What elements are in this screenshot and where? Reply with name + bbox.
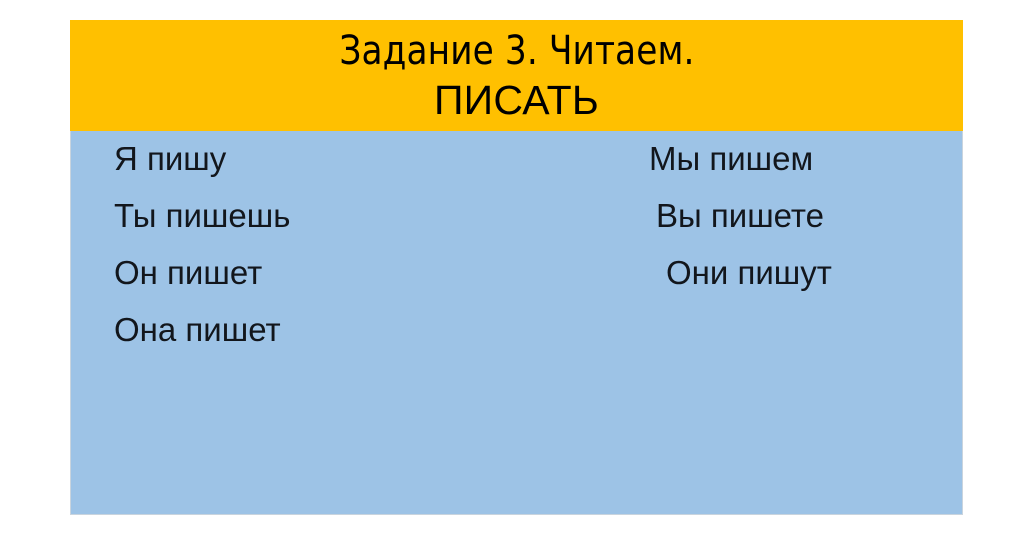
slide: Задание 3. Читаем. ПИСАТЬ Я пишу Мы пише… xyxy=(70,20,963,515)
conjugation-row: Ты пишешь Вы пишете xyxy=(71,194,964,251)
conjugation-row: Она пишет xyxy=(71,308,964,365)
conjugation-row: Он пишет Они пишут xyxy=(71,251,964,308)
conjugation-form-singular: Он пишет xyxy=(114,251,262,295)
content-panel: Я пишу Мы пишем Ты пишешь Вы пишете Он п… xyxy=(70,131,963,515)
conjugation-table: Я пишу Мы пишем Ты пишешь Вы пишете Он п… xyxy=(71,131,964,515)
conjugation-row: Я пишу Мы пишем xyxy=(71,137,964,194)
conjugation-form-plural: Они пишут xyxy=(666,251,832,295)
conjugation-form-singular: Я пишу xyxy=(114,137,226,181)
conjugation-form-plural: Мы пишем xyxy=(649,137,813,181)
page-title-primary: Задание 3. Читаем. xyxy=(339,26,694,76)
title-band: Задание 3. Читаем. ПИСАТЬ xyxy=(70,20,963,131)
conjugation-form-plural: Вы пишете xyxy=(656,194,824,238)
conjugation-form-singular: Ты пишешь xyxy=(114,194,290,238)
page-title-verb: ПИСАТЬ xyxy=(434,76,599,124)
conjugation-form-singular: Она пишет xyxy=(114,308,281,352)
